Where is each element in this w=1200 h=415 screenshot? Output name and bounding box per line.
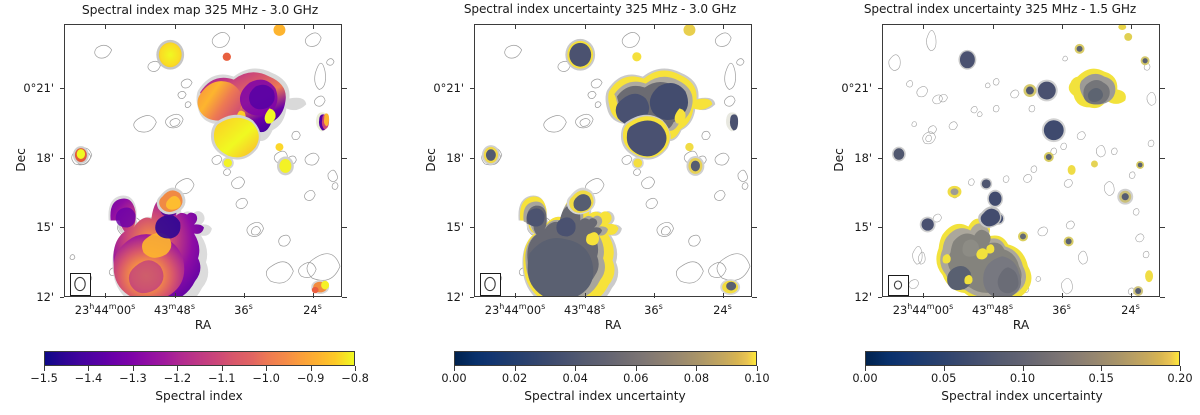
ytick-label-2: 15' [36, 220, 54, 234]
ytick-label-1: 18' [446, 151, 464, 165]
xtick-label-0: 23h44m00s [75, 302, 136, 317]
ytick-1 [470, 158, 475, 159]
cbtick-5 [266, 366, 267, 371]
xtick-1 [175, 293, 176, 298]
ytick-2 [470, 227, 475, 228]
sky-plot-area [474, 24, 752, 297]
xtick-top-3 [723, 24, 724, 29]
panel-title: Spectral index uncertainty 325 MHz - 3.0… [400, 2, 800, 16]
sky-plot-area [64, 24, 342, 297]
colorbar-title: Spectral index uncertainty [524, 389, 685, 403]
cbtick-0 [454, 366, 455, 371]
x-axis-title: RA [1013, 318, 1029, 332]
xtick-label-0: 23h44m00s [485, 302, 546, 317]
ytick-2 [878, 227, 883, 228]
ytick-label-1: 18' [854, 151, 872, 165]
ytick-0 [470, 88, 475, 89]
panel-title: Spectral index map 325 MHz - 3.0 GHz [0, 2, 400, 17]
cbar-label-3: 0.06 [623, 371, 648, 385]
colorbar-title: Spectral index uncertainty [941, 389, 1102, 403]
panel-spectral-index-map: Spectral index map 325 MHz - 3.0 GHz [0, 0, 400, 415]
cbtick-4 [222, 366, 223, 371]
ytick-right-3 [752, 297, 757, 298]
xtick-top-0 [923, 24, 924, 29]
ytick-3 [60, 297, 65, 298]
cbtick-7 [355, 366, 356, 371]
xtick-top-1 [993, 24, 994, 29]
cbar-label-5: −1.0 [252, 371, 280, 385]
colorbar-3 [865, 351, 1180, 366]
y-axis-title: Dec [14, 130, 28, 190]
xtick-1 [993, 293, 994, 298]
beam-box [888, 275, 909, 296]
xtick-top-2 [1062, 24, 1063, 29]
xtick-label-2: 36s [234, 302, 253, 317]
cbtick-1 [944, 366, 945, 371]
cbar-label-2: 0.04 [563, 371, 588, 385]
panel-uncertainty-1p5ghz: Spectral index uncertainty 325 MHz - 1.5… [800, 0, 1200, 415]
sky-image-1 [65, 25, 341, 296]
colorbar-title: Spectral index [155, 389, 243, 403]
cbar-label-6: −0.9 [297, 371, 325, 385]
xtick-top-2 [654, 24, 655, 29]
cbar-label-3: −1.2 [163, 371, 191, 385]
cbtick-2 [575, 366, 576, 371]
ytick-label-0: 0°21' [841, 81, 872, 95]
ytick-2 [60, 227, 65, 228]
ytick-right-1 [342, 158, 347, 159]
cbar-label-1: 0.05 [931, 371, 956, 385]
xtick-label-0: 23h44m00s [893, 302, 954, 317]
xtick-top-3 [313, 24, 314, 29]
xtick-label-3: 24s [303, 302, 322, 317]
ytick-label-0: 0°21' [433, 81, 464, 95]
ytick-right-2 [752, 227, 757, 228]
cbtick-0 [865, 366, 866, 371]
xtick-0 [105, 293, 106, 298]
ytick-0 [60, 88, 65, 89]
cbtick-4 [696, 366, 697, 371]
xtick-top-1 [585, 24, 586, 29]
cbar-label-3: 0.15 [1089, 371, 1114, 385]
ytick-label-3: 12' [36, 290, 54, 304]
ytick-label-0: 0°21' [23, 81, 54, 95]
ytick-3 [470, 297, 475, 298]
ytick-right-0 [752, 88, 757, 89]
y-axis-title: Dec [832, 130, 846, 190]
xtick-label-1: 43m48s [972, 302, 1013, 317]
ytick-right-0 [1160, 88, 1165, 89]
cbar-label-4: 0.20 [1167, 371, 1192, 385]
xtick-2 [244, 293, 245, 298]
colorbar-1 [44, 351, 355, 366]
xtick-2 [654, 293, 655, 298]
cbar-label-2: 0.10 [1010, 371, 1035, 385]
xtick-label-2: 36s [644, 302, 663, 317]
xtick-3 [1131, 293, 1132, 298]
panel-title: Spectral index uncertainty 325 MHz - 1.5… [800, 2, 1200, 16]
xtick-label-1: 43m48s [154, 302, 195, 317]
ytick-label-3: 12' [854, 290, 872, 304]
cbtick-2 [133, 366, 134, 371]
sky-image-2 [475, 25, 751, 296]
xtick-top-0 [515, 24, 516, 29]
ytick-right-0 [342, 88, 347, 89]
cbar-label-7: −0.8 [341, 371, 369, 385]
cbtick-3 [177, 366, 178, 371]
cbtick-3 [1101, 366, 1102, 371]
xtick-0 [923, 293, 924, 298]
cbtick-6 [311, 366, 312, 371]
ytick-right-2 [1160, 227, 1165, 228]
ytick-label-3: 12' [446, 290, 464, 304]
cbar-label-0: −1.5 [30, 371, 58, 385]
cbtick-4 [1180, 366, 1181, 371]
beam-box [480, 273, 501, 296]
xtick-label-3: 24s [713, 302, 732, 317]
ytick-1 [878, 158, 883, 159]
colorbar-2 [454, 351, 757, 366]
panel-uncertainty-3ghz: Spectral index uncertainty 325 MHz - 3.0… [400, 0, 800, 415]
ytick-0 [878, 88, 883, 89]
xtick-3 [723, 293, 724, 298]
cbar-label-2: −1.3 [119, 371, 147, 385]
cbar-label-1: −1.4 [75, 371, 103, 385]
cbar-label-0: 0.00 [441, 371, 466, 385]
ytick-label-2: 15' [854, 220, 872, 234]
cbtick-2 [1023, 366, 1024, 371]
figure-root: Spectral index map 325 MHz - 3.0 GHz [0, 0, 1200, 415]
xtick-3 [313, 293, 314, 298]
uncertainty-blobs [892, 25, 1153, 296]
x-axis-title: RA [605, 318, 621, 332]
xtick-top-2 [244, 24, 245, 29]
contours [482, 32, 750, 283]
xtick-2 [1062, 293, 1063, 298]
cbar-label-5: 0.10 [744, 371, 769, 385]
y-axis-title: Dec [424, 130, 438, 190]
cbtick-0 [44, 366, 45, 371]
ytick-right-2 [342, 227, 347, 228]
cbar-label-1: 0.02 [502, 371, 527, 385]
xtick-label-1: 43m48s [564, 302, 605, 317]
ytick-3 [878, 297, 883, 298]
ytick-right-3 [1160, 297, 1165, 298]
xtick-0 [515, 293, 516, 298]
xtick-top-1 [175, 24, 176, 29]
ytick-label-1: 18' [36, 151, 54, 165]
ytick-1 [60, 158, 65, 159]
cbtick-3 [636, 366, 637, 371]
spectral-index-blobs [73, 25, 329, 296]
cbtick-1 [515, 366, 516, 371]
sky-image-3 [883, 25, 1159, 296]
cbtick-1 [88, 366, 89, 371]
uncertainty-blobs [482, 25, 740, 296]
xtick-top-0 [105, 24, 106, 29]
ytick-right-1 [1160, 158, 1165, 159]
xtick-1 [585, 293, 586, 298]
ytick-label-2: 15' [446, 220, 464, 234]
xtick-label-2: 36s [1052, 302, 1071, 317]
sky-plot-area [882, 24, 1160, 297]
cbtick-5 [757, 366, 758, 371]
x-axis-title: RA [195, 318, 211, 332]
xtick-label-3: 24s [1121, 302, 1140, 317]
cbar-label-4: −1.1 [208, 371, 236, 385]
ytick-right-1 [752, 158, 757, 159]
beam-box [70, 273, 91, 296]
xtick-top-3 [1131, 24, 1132, 29]
ytick-right-3 [342, 297, 347, 298]
cbar-label-0: 0.00 [852, 371, 877, 385]
cbar-label-4: 0.08 [684, 371, 709, 385]
